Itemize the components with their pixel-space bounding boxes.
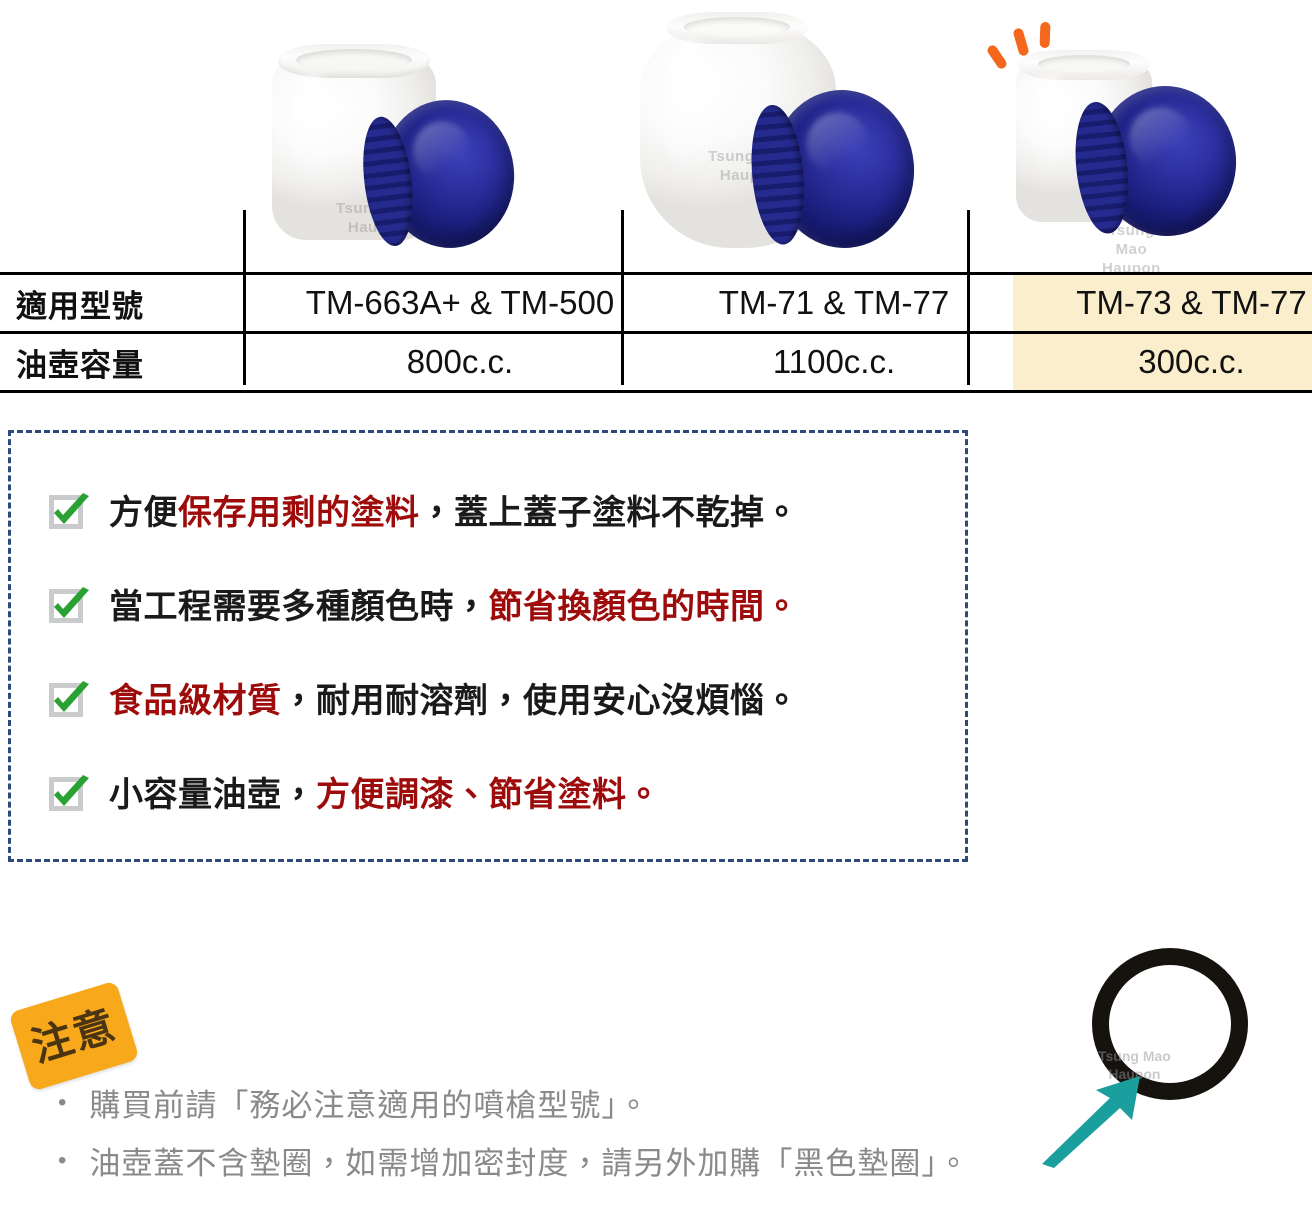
feature-text: 小容量油壺，方便調漆、節省塗料。	[109, 778, 661, 812]
spec-table: 適用型號 TM-663A+ & TM-500 TM-71 & TM-77 TM-…	[0, 272, 1312, 393]
jar-mouth	[684, 17, 790, 37]
cell-capacity-1100cc: 1100c.c.	[655, 333, 1013, 392]
checkmark-icon	[47, 585, 91, 629]
checkmark-icon	[47, 679, 91, 723]
lid-highlight	[804, 110, 872, 178]
checkmark-icon	[47, 773, 91, 817]
bullet-icon: •	[58, 1088, 67, 1118]
product-image-1100cc: Tsung MaoHaupon	[622, 0, 968, 272]
notice-text: 購買前請「務必注意適用的噴槍型號」。	[89, 1088, 650, 1124]
checkmark-icon	[47, 491, 91, 535]
cell-capacity-800cc: 800c.c.	[265, 333, 655, 392]
row-label-capacity: 油壺容量	[0, 333, 265, 392]
feature-item: 小容量油壺，方便調漆、節省塗料。	[47, 773, 661, 817]
lid-highlight	[1127, 104, 1195, 170]
product-image-300cc: Tsung MaoHaupon	[968, 0, 1312, 272]
jar-mouth	[296, 49, 412, 71]
lid-highlight	[410, 118, 475, 184]
emphasis-dash-icon	[1040, 22, 1051, 48]
table-row: 適用型號 TM-663A+ & TM-500 TM-71 & TM-77 TM-…	[0, 274, 1312, 333]
cell-model-1100cc: TM-71 & TM-77	[655, 274, 1013, 333]
notice-text: 油壺蓋不含墊圈，如需增加密封度，請另外加購「黑色墊圈」。	[89, 1146, 970, 1182]
cell-capacity-300cc: 300c.c.	[1013, 333, 1312, 392]
feature-item: 方便保存用剩的塗料，蓋上蓋子塗料不乾掉。	[47, 491, 799, 535]
emphasis-dash-icon	[1012, 27, 1029, 57]
features-box: 方便保存用剩的塗料，蓋上蓋子塗料不乾掉。 當工程需要多種顏色時，節省換顏色的時間…	[8, 430, 968, 862]
feature-item: 當工程需要多種顏色時，節省換顏色的時間。	[47, 585, 799, 629]
table-row: 油壺容量 800c.c. 1100c.c. 300c.c.	[0, 333, 1312, 392]
notice-badge: 注意	[8, 980, 139, 1091]
feature-text: 當工程需要多種顏色時，節省換顏色的時間。	[109, 590, 799, 624]
bullet-icon: •	[58, 1146, 67, 1176]
emphasis-dash-icon	[986, 43, 1009, 70]
cell-model-300cc: TM-73 & TM-77	[1013, 274, 1312, 333]
notice-badge-label: 注意	[27, 1004, 121, 1068]
cell-model-800cc: TM-663A+ & TM-500	[265, 274, 655, 333]
pointer-arrow-icon	[1040, 1068, 1150, 1168]
row-label-model: 適用型號	[0, 274, 265, 333]
feature-text: 方便保存用剩的塗料，蓋上蓋子塗料不乾掉。	[109, 496, 799, 530]
feature-text: 食品級材質，耐用耐溶劑，使用安心沒煩惱。	[109, 684, 799, 718]
product-image-strip: Tsung MaoHaupon Tsung MaoHaupon Tsung Ma…	[0, 0, 1312, 272]
feature-item: 食品級材質，耐用耐溶劑，使用安心沒煩惱。	[47, 679, 799, 723]
jar-mouth	[1038, 55, 1130, 73]
product-image-800cc: Tsung MaoHaupon	[244, 0, 622, 272]
